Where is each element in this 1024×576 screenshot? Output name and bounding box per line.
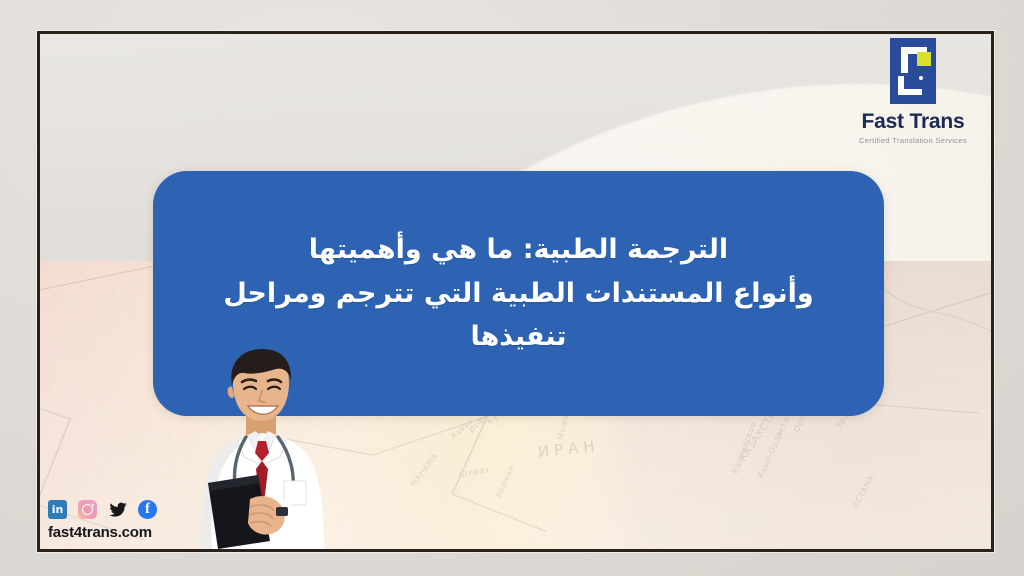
brand-tagline: Certified Translation Services bbox=[847, 136, 979, 145]
headline-line-2: وأنواع المستندات الطبية التي تترجم ومراح… bbox=[179, 272, 858, 359]
website-url[interactable]: fast4trans.com bbox=[48, 524, 152, 541]
doctor-illustration bbox=[188, 349, 336, 549]
linkedin-icon[interactable]: in bbox=[48, 500, 67, 519]
social-links[interactable]: in f bbox=[48, 500, 157, 519]
facebook-icon[interactable]: f bbox=[138, 500, 157, 519]
fast-trans-logo-icon bbox=[890, 38, 936, 104]
brand-name: Fast Trans bbox=[847, 110, 979, 133]
brand-logo[interactable]: Fast Trans Certified Translation Service… bbox=[847, 38, 979, 145]
poster-canvas: ИРАНАШХАБАДМешхедТУРКМЕНИЯУЗБЕКИСТАНТАШК… bbox=[0, 0, 1024, 576]
poster-frame: ИРАНАШХАБАДМешхедТУРКМЕНИЯУЗБЕКИСТАНТАШК… bbox=[37, 31, 994, 552]
instagram-icon[interactable] bbox=[78, 500, 97, 519]
twitter-icon[interactable] bbox=[108, 500, 127, 519]
headline-line-1: الترجمة الطبية: ما هي وأهميتها bbox=[179, 228, 858, 272]
headline-text: الترجمة الطبية: ما هي وأهميتها وأنواع ال… bbox=[153, 228, 884, 359]
